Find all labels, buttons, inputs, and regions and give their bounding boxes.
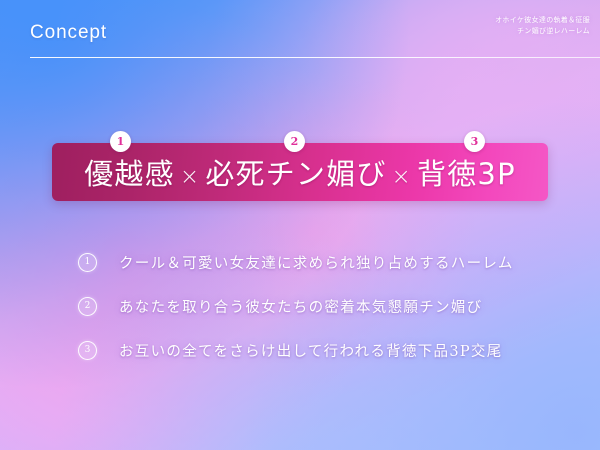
hero-part-2: 必死チン媚び — [205, 157, 386, 191]
bullet-number-badge: 2 — [78, 297, 97, 316]
header-meta-line-2: チン媚び逆レハーレム — [495, 26, 590, 37]
header-meta-line-1: オホイケ彼女達の執着＆征服 — [495, 15, 590, 26]
hero-badge-3: 3 — [464, 131, 485, 152]
hero-part-1: 優越感 — [84, 157, 175, 191]
background-blue-glow — [0, 0, 600, 450]
concept-slide: Concept オホイケ彼女達の執着＆征服 チン媚び逆レハーレム 優越感×必死チ… — [0, 0, 600, 450]
hero-separator-2-icon: × — [387, 164, 417, 190]
list-item: 2 あなたを取り合う彼女たちの密着本気懇願チン媚び — [78, 284, 560, 328]
hero-banner-title: 優越感×必死チン媚び×背徳3P — [84, 151, 516, 193]
header-meta: オホイケ彼女達の執着＆征服 チン媚び逆レハーレム — [495, 15, 590, 37]
bullet-text: あなたを取り合う彼女たちの密着本気懇願チン媚び — [119, 296, 482, 317]
bullet-list: 1 クール＆可愛い女友達に求められ独り占めするハーレム 2 あなたを取り合う彼女… — [78, 240, 560, 372]
page-title: Concept — [30, 22, 107, 44]
bullet-text: お互いの全てをさらけ出して行われる背徳下品3P交尾 — [119, 340, 503, 361]
bullet-number-badge: 1 — [78, 253, 97, 272]
background-lilac-glow — [0, 0, 600, 450]
background-base-gradient — [0, 0, 600, 450]
hero-badge-2: 2 — [284, 131, 305, 152]
hero-part-3: 背徳3P — [417, 157, 516, 191]
hero-separator-1-icon: × — [175, 164, 205, 190]
background-pink-glow — [0, 0, 600, 450]
hero-banner: 優越感×必死チン媚び×背徳3P 1 2 3 — [52, 143, 548, 201]
header-divider — [30, 57, 600, 58]
hero-badge-1: 1 — [110, 131, 131, 152]
bullet-number-badge: 3 — [78, 341, 97, 360]
list-item: 3 お互いの全てをさらけ出して行われる背徳下品3P交尾 — [78, 328, 560, 372]
list-item: 1 クール＆可愛い女友達に求められ独り占めするハーレム — [78, 240, 560, 284]
slide-header: Concept オホイケ彼女達の執着＆征服 チン媚び逆レハーレム — [0, 0, 600, 66]
bullet-text: クール＆可愛い女友達に求められ独り占めするハーレム — [119, 252, 514, 273]
